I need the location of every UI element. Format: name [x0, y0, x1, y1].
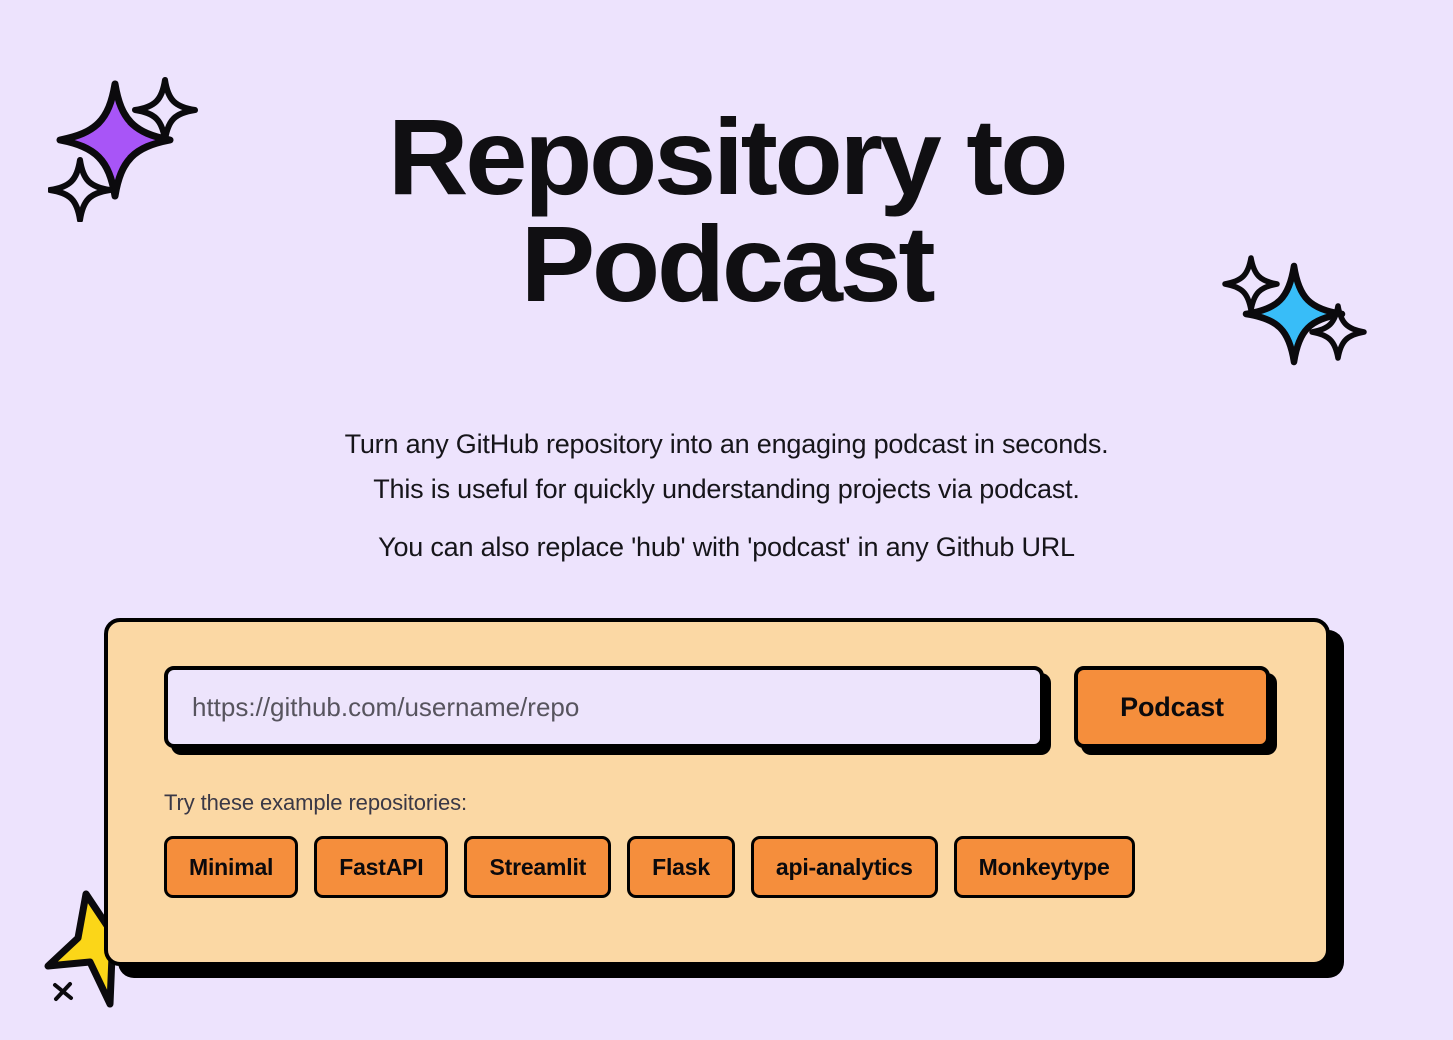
example-chip-fastapi[interactable]: FastAPI [314, 836, 448, 898]
generate-podcast-button[interactable]: Podcast [1074, 666, 1270, 748]
example-chip-streamlit[interactable]: Streamlit [464, 836, 611, 898]
example-chip-monkeytype[interactable]: Monkeytype [954, 836, 1135, 898]
page-subtitle: Turn any GitHub repository into an engag… [0, 422, 1453, 570]
subtitle-line-1: Turn any GitHub repository into an engag… [0, 422, 1453, 467]
page-title: Repository to Podcast [0, 104, 1453, 318]
example-chip-api-analytics[interactable]: api-analytics [751, 836, 938, 898]
page-title-line-1: Repository to [0, 104, 1453, 211]
example-repositories-list: Minimal FastAPI Streamlit Flask api-anal… [164, 836, 1270, 898]
examples-label: Try these example repositories: [164, 790, 1270, 816]
example-chip-flask[interactable]: Flask [627, 836, 735, 898]
repo-input-card: Podcast Try these example repositories: … [104, 618, 1330, 966]
subtitle-note: You can also replace 'hub' with 'podcast… [0, 525, 1453, 570]
url-form-row: Podcast [164, 666, 1270, 748]
example-chip-minimal[interactable]: Minimal [164, 836, 298, 898]
subtitle-line-2: This is useful for quickly understanding… [0, 467, 1453, 512]
page-title-line-2: Podcast [0, 211, 1453, 318]
plus-icon-bottom [55, 984, 71, 999]
repo-url-input[interactable] [164, 666, 1044, 748]
